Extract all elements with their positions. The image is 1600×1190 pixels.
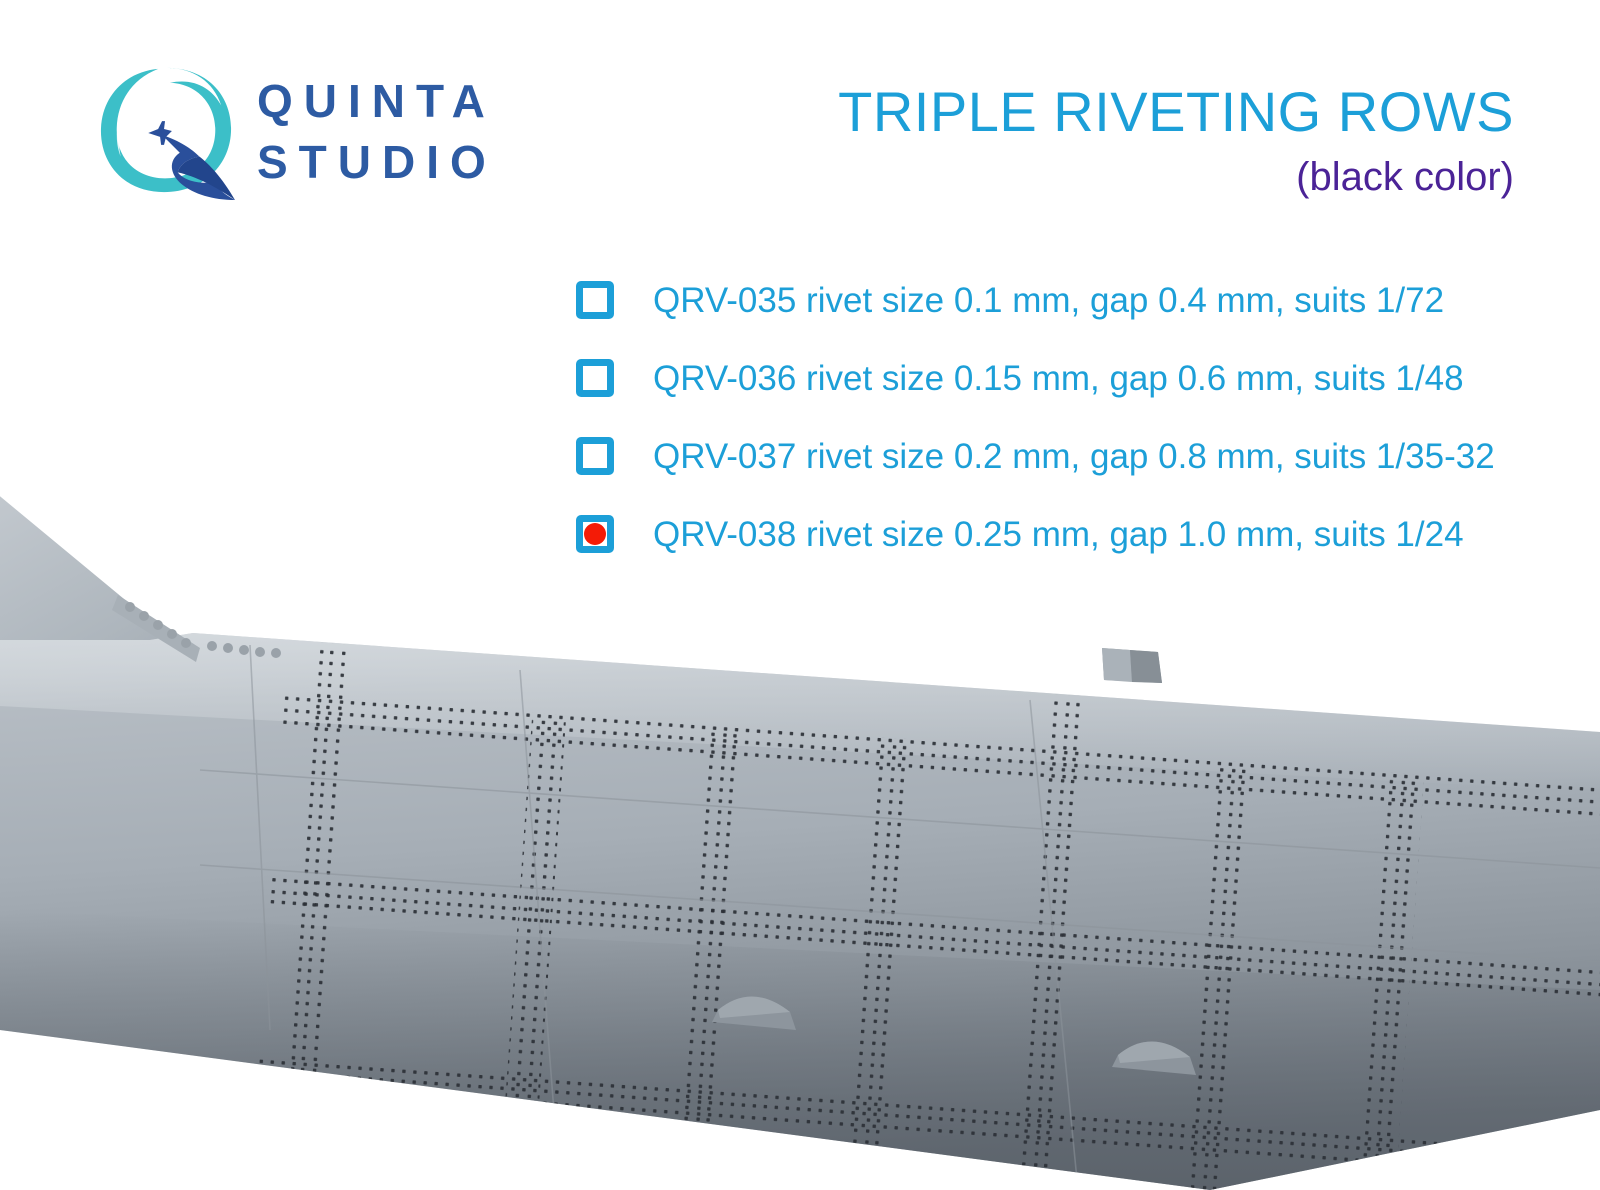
product-variant-list: QRV-035 rivet size 0.1 mm, gap 0.4 mm, s… bbox=[576, 272, 1495, 562]
list-item[interactable]: QRV-035 rivet size 0.1 mm, gap 0.4 mm, s… bbox=[576, 272, 1495, 328]
product-label-page: QUINTA STUDIO TRIPLE RIVETING ROWS (blac… bbox=[0, 0, 1600, 1190]
option-label-qrv-037: QRV-037 rivet size 0.2 mm, gap 0.8 mm, s… bbox=[653, 439, 1495, 474]
quinta-q-swoosh-jet-logo-icon bbox=[97, 62, 235, 202]
brand-name-line-1: QUINTA bbox=[257, 71, 497, 132]
list-item[interactable]: QRV-037 rivet size 0.2 mm, gap 0.8 mm, s… bbox=[576, 428, 1495, 484]
model-photo bbox=[0, 470, 1600, 1190]
selected-dot-icon bbox=[584, 523, 606, 545]
page-subtitle: (black color) bbox=[838, 157, 1514, 197]
brand-wordmark: QUINTA STUDIO bbox=[257, 71, 497, 192]
page-title: TRIPLE RIVETING ROWS bbox=[838, 84, 1514, 140]
option-label-qrv-035: QRV-035 rivet size 0.1 mm, gap 0.4 mm, s… bbox=[653, 283, 1444, 318]
dorsal-antenna-fairing bbox=[1102, 648, 1162, 683]
header: QUINTA STUDIO TRIPLE RIVETING ROWS (blac… bbox=[0, 0, 1600, 230]
model-photo-illustration bbox=[0, 470, 1600, 1190]
list-item[interactable]: QRV-036 rivet size 0.15 mm, gap 0.6 mm, … bbox=[576, 350, 1495, 406]
option-label-qrv-036: QRV-036 rivet size 0.15 mm, gap 0.6 mm, … bbox=[653, 361, 1464, 396]
title-block: TRIPLE RIVETING ROWS (black color) bbox=[838, 84, 1514, 197]
brand-name-line-2: STUDIO bbox=[257, 132, 497, 193]
list-item[interactable]: QRV-038 rivet size 0.25 mm, gap 1.0 mm, … bbox=[576, 506, 1495, 562]
checkbox-qrv-037[interactable] bbox=[576, 437, 614, 475]
option-label-qrv-038: QRV-038 rivet size 0.25 mm, gap 1.0 mm, … bbox=[653, 517, 1464, 552]
checkbox-qrv-038[interactable] bbox=[576, 515, 614, 553]
checkbox-qrv-035[interactable] bbox=[576, 281, 614, 319]
checkbox-qrv-036[interactable] bbox=[576, 359, 614, 397]
brand-lockup: QUINTA STUDIO bbox=[97, 62, 497, 202]
